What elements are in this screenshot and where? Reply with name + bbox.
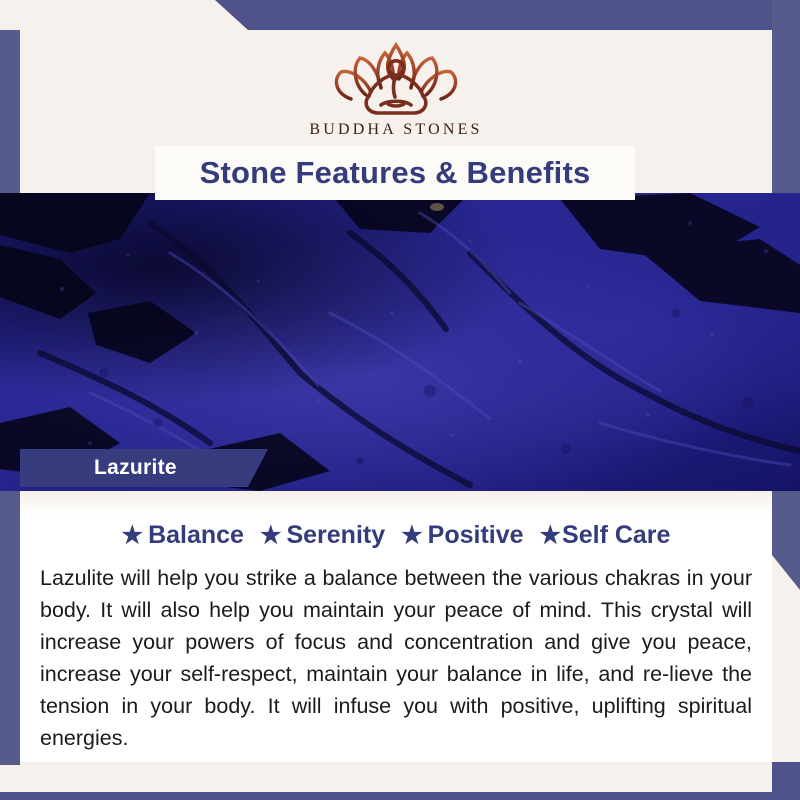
page-title: Stone Features & Benefits bbox=[200, 155, 591, 191]
card-top-fade bbox=[20, 491, 772, 515]
keyword-item-self-care: ★ Self Care bbox=[540, 521, 671, 550]
stone-photo bbox=[0, 193, 800, 491]
keyword-item-balance: ★ Balance bbox=[122, 521, 244, 550]
stone-name-tab: Lazurite bbox=[20, 449, 268, 487]
content-card: ★ Balance ★ Serenity ★ Positive ★ Self C… bbox=[20, 491, 772, 762]
title-banner: Stone Features & Benefits bbox=[155, 146, 635, 200]
brand-header: BUDDHA STONES bbox=[20, 30, 772, 148]
keyword-label: Self Care bbox=[562, 521, 670, 550]
stone-name-label: Lazurite bbox=[94, 456, 177, 480]
keyword-list: ★ Balance ★ Serenity ★ Positive ★ Self C… bbox=[36, 521, 756, 550]
star-icon: ★ bbox=[260, 524, 282, 548]
keyword-label: Serenity bbox=[286, 521, 385, 550]
star-icon: ★ bbox=[401, 524, 423, 548]
keyword-item-positive: ★ Positive bbox=[401, 521, 523, 550]
stone-photo-graphic bbox=[0, 193, 800, 491]
stone-description: Lazulite will help you strike a balance … bbox=[36, 562, 756, 754]
keyword-label: Positive bbox=[428, 521, 524, 550]
keyword-item-serenity: ★ Serenity bbox=[260, 521, 385, 550]
logo-lockup: BUDDHA STONES bbox=[309, 39, 482, 139]
star-icon: ★ bbox=[122, 524, 144, 548]
keyword-label: Balance bbox=[148, 521, 244, 550]
brand-name: BUDDHA STONES bbox=[309, 121, 482, 139]
poster-root: BUDDHA STONES Stone Features & Benefits bbox=[0, 0, 800, 800]
bottom-cream-sliver bbox=[20, 762, 772, 792]
lotus-meditating-figure-icon bbox=[321, 39, 471, 119]
star-icon: ★ bbox=[540, 524, 562, 548]
